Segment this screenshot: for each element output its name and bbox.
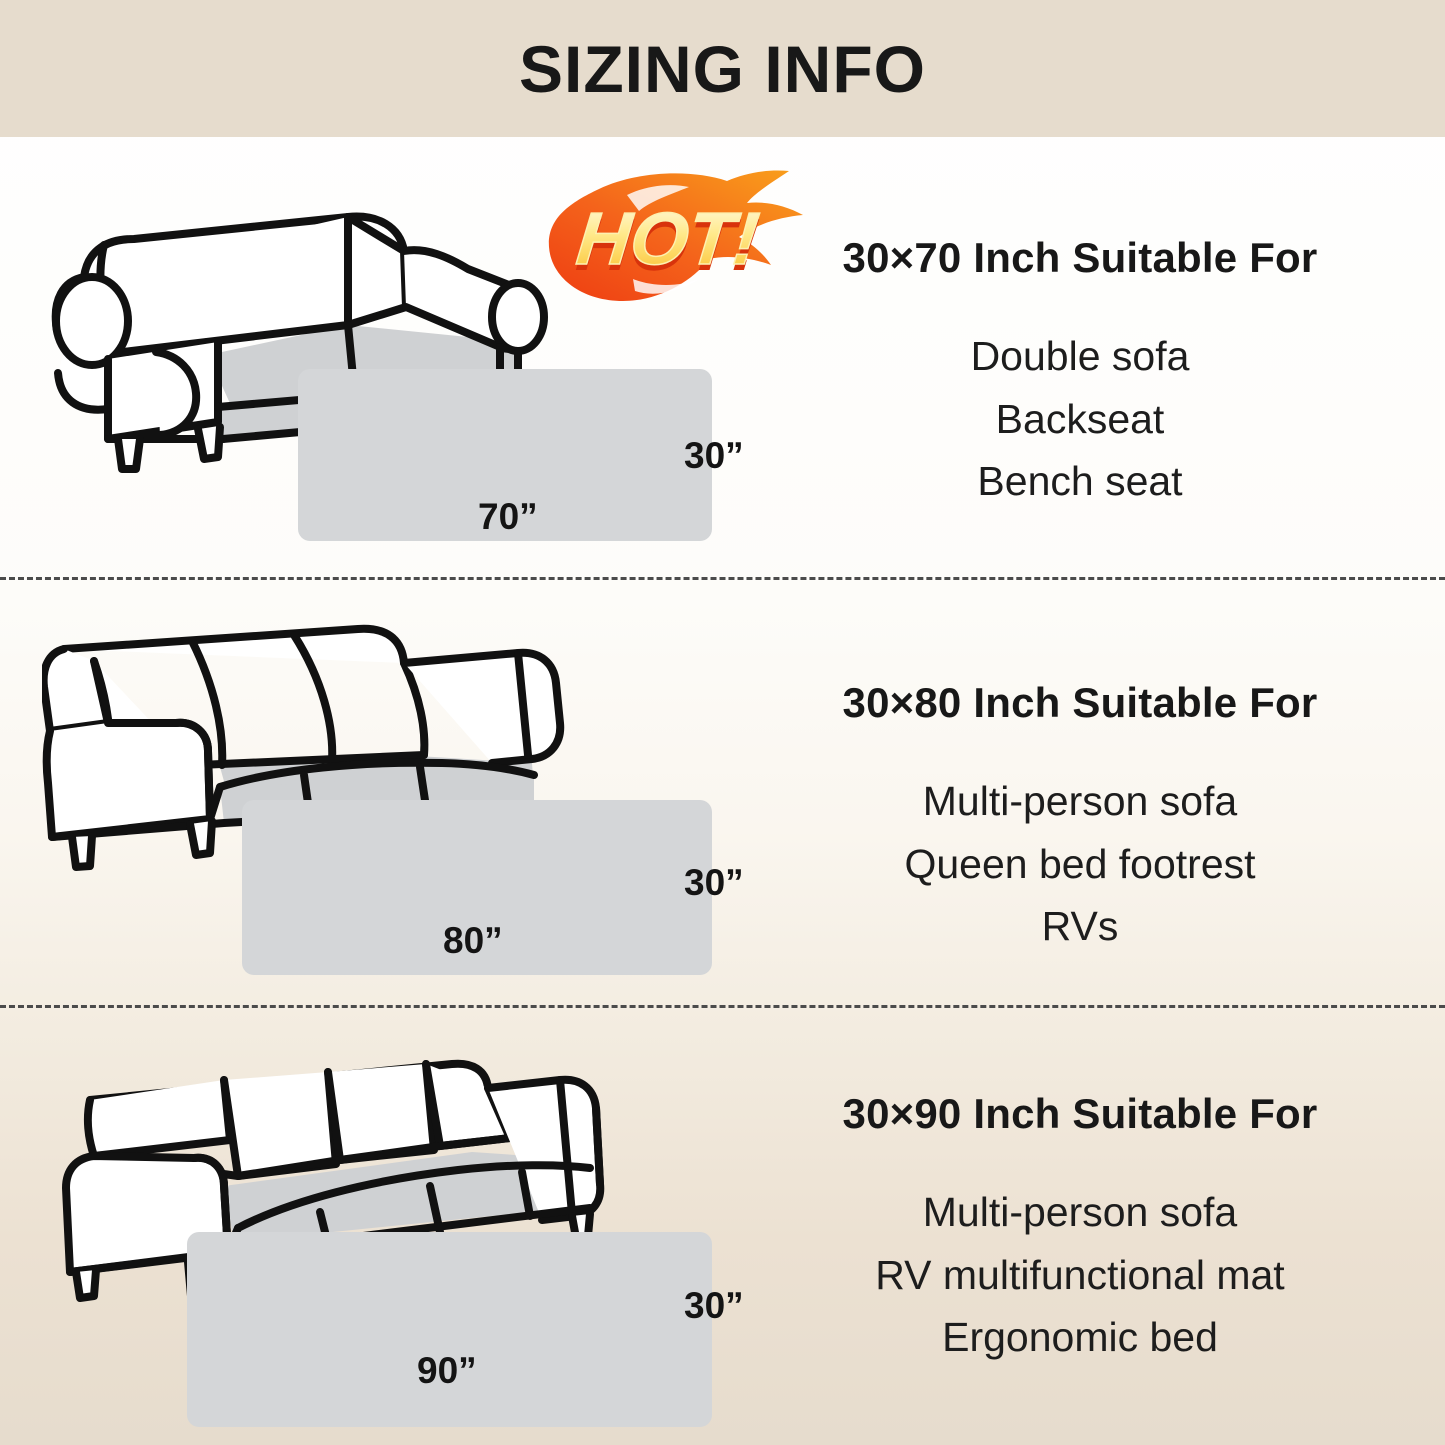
list-item: RVs: [770, 895, 1390, 957]
measure-height-label-30x90: 30”: [684, 1285, 744, 1327]
info-title-30x80: 30×80 Inch Suitable For: [770, 680, 1390, 726]
list-item: RV multifunctional mat: [770, 1244, 1390, 1306]
list-item: Ergonomic bed: [770, 1306, 1390, 1368]
sizing-row-30x70: HOT! HOT! 30×70 Inch Suitable For Double…: [0, 137, 1445, 577]
sizing-info-page: SIZING INFO: [0, 0, 1445, 1445]
measure-width-label-30x90: 90”: [417, 1350, 477, 1392]
measure-height-label-30x70: 30”: [684, 435, 744, 477]
info-list-30x90: Multi-person sofa RV multifunctional mat…: [770, 1181, 1390, 1368]
sizing-row-30x90: 30×90 Inch Suitable For Multi-person sof…: [0, 1008, 1445, 1445]
info-list-30x80: Multi-person sofa Queen bed footrest RVs: [770, 770, 1390, 957]
hot-badge-label: HOT!: [573, 197, 763, 280]
sizing-row-30x80: 30×80 Inch Suitable For Multi-person sof…: [0, 580, 1445, 1005]
list-item: Multi-person sofa: [770, 1181, 1390, 1243]
info-block-30x90: 30×90 Inch Suitable For Multi-person sof…: [770, 1091, 1390, 1368]
list-item: Double sofa: [770, 325, 1390, 387]
info-block-30x70: 30×70 Inch Suitable For Double sofa Back…: [770, 235, 1390, 512]
info-title-30x90: 30×90 Inch Suitable For: [770, 1091, 1390, 1137]
list-item: Multi-person sofa: [770, 770, 1390, 832]
measure-width-label-30x80: 80”: [443, 920, 503, 962]
page-title: SIZING INFO: [0, 0, 1445, 137]
measure-height-label-30x80: 30”: [684, 862, 744, 904]
list-item: Backseat: [770, 388, 1390, 450]
list-item: Queen bed footrest: [770, 833, 1390, 895]
info-block-30x80: 30×80 Inch Suitable For Multi-person sof…: [770, 680, 1390, 957]
info-list-30x70: Double sofa Backseat Bench seat: [770, 325, 1390, 512]
info-title-30x70: 30×70 Inch Suitable For: [770, 235, 1390, 281]
measure-width-label-30x70: 70”: [478, 496, 538, 538]
measure-rect-30x90: [187, 1232, 712, 1427]
list-item: Bench seat: [770, 450, 1390, 512]
